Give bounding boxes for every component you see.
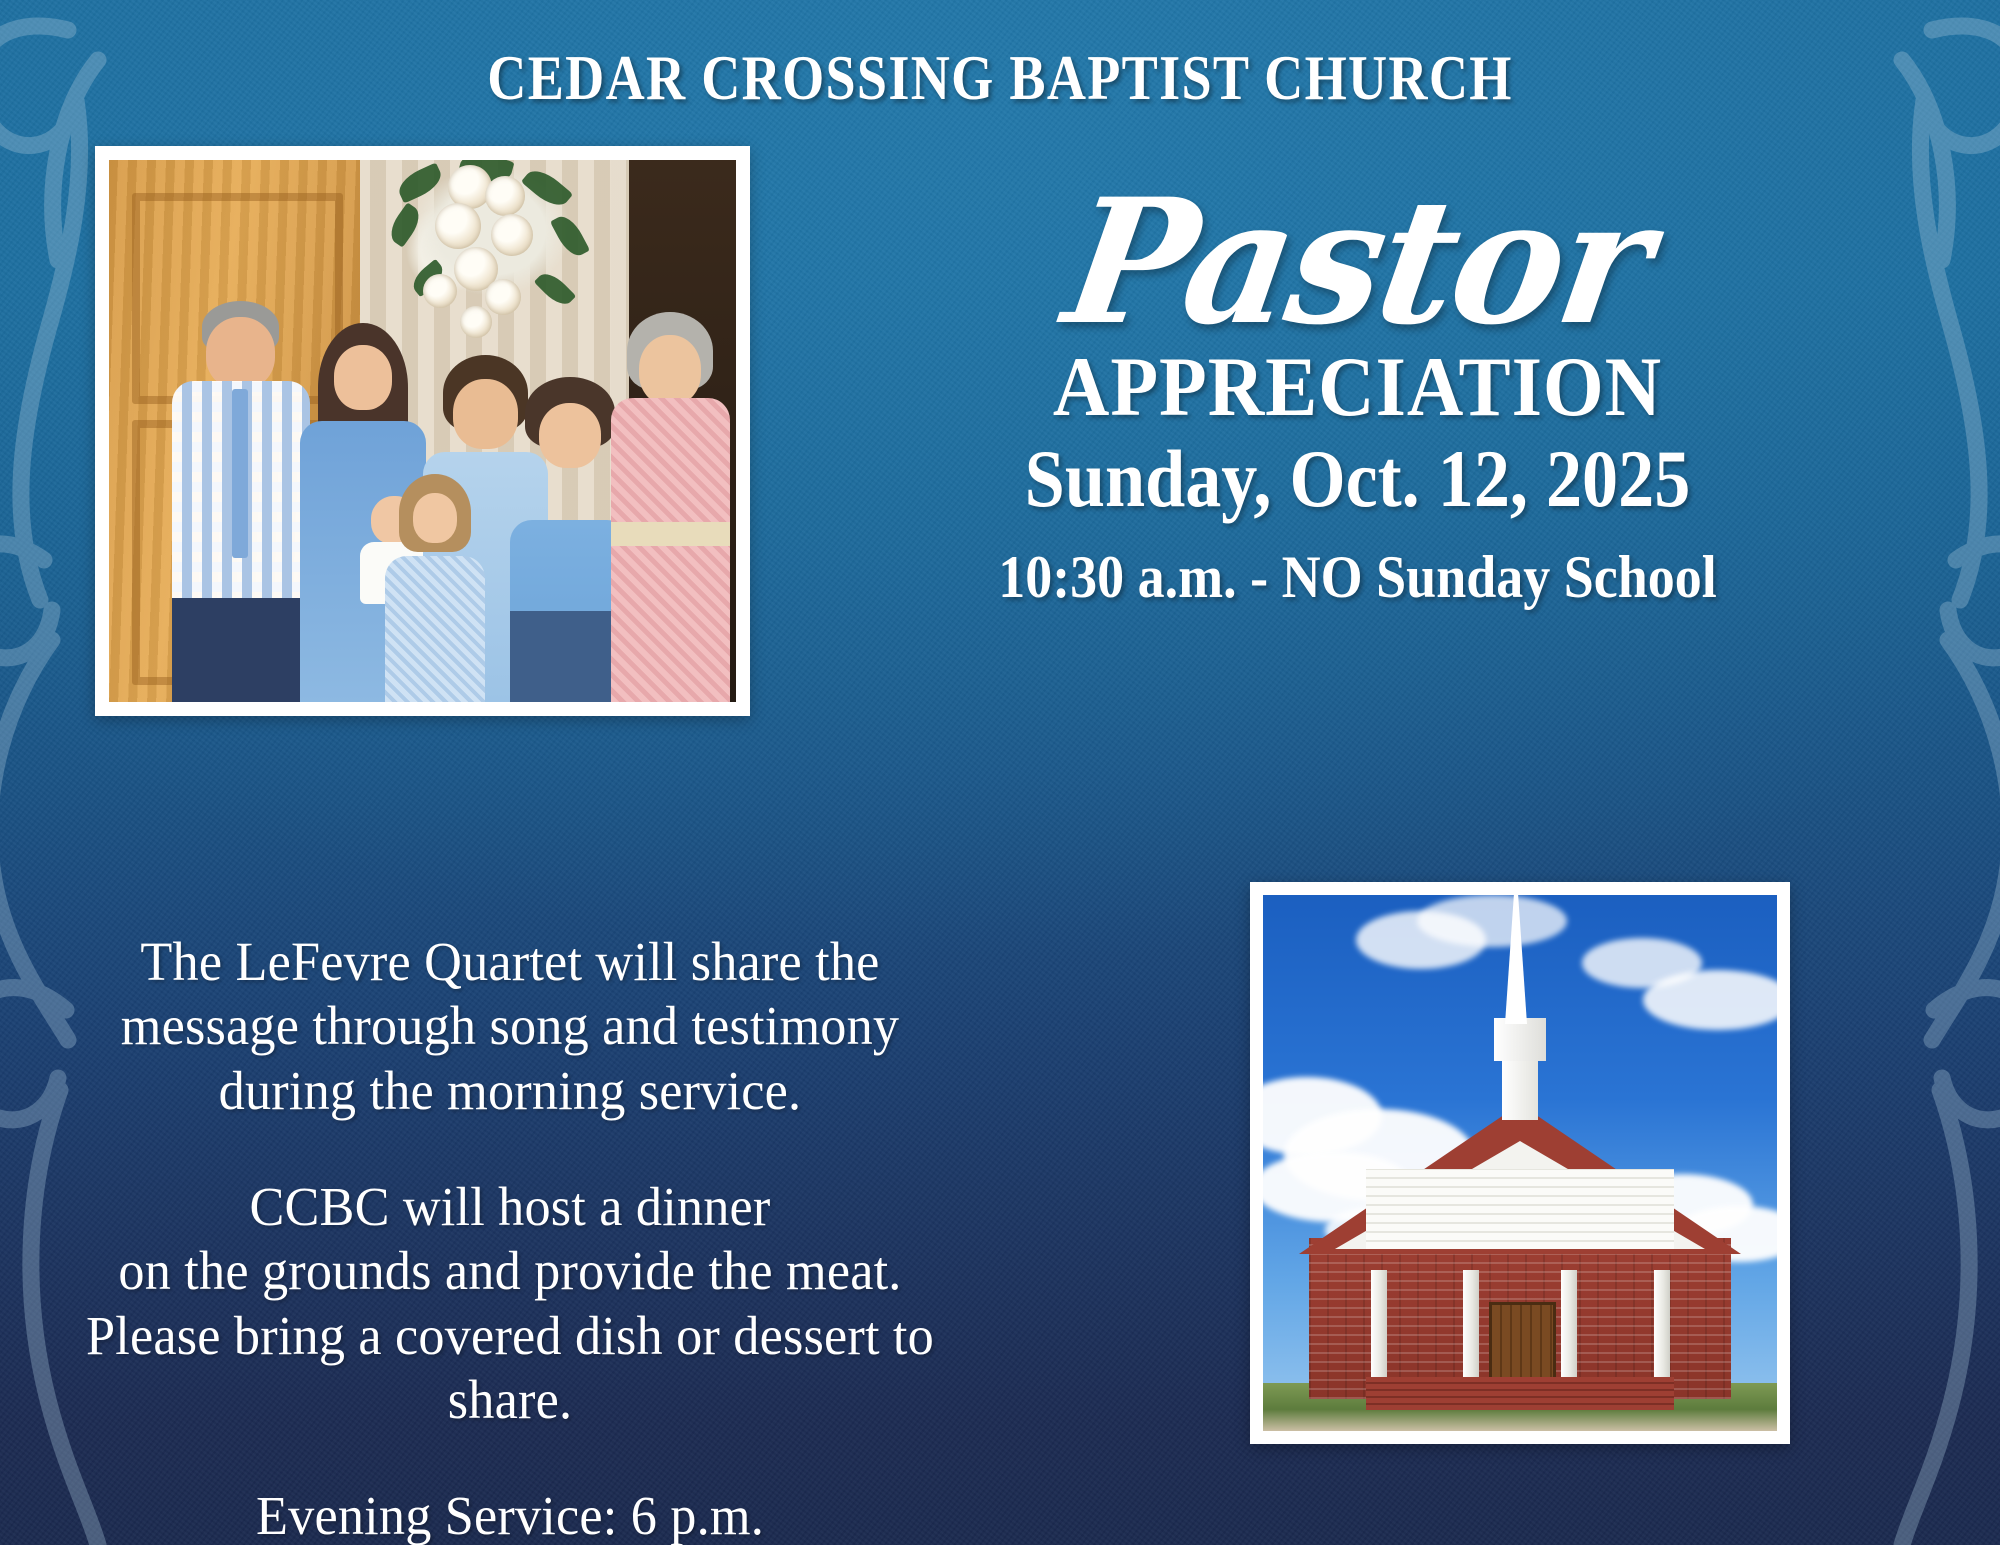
family-photo-image (109, 160, 736, 702)
body-copy-block: The LeFevre Quartet will share the messa… (64, 930, 957, 1545)
church-name-title: CEDAR CROSSING BAPTIST CHURCH (140, 42, 1860, 115)
paragraph-spacer-2 (64, 1432, 957, 1484)
church-building-photo (1250, 882, 1790, 1444)
church-photo-image (1263, 895, 1777, 1431)
body-line-5: on the grounds and provide the meat. (64, 1239, 957, 1303)
body-line-3: during the morning service. (64, 1059, 957, 1123)
pastor-script-word: Pastor (765, 178, 1951, 347)
paragraph-spacer (64, 1123, 957, 1175)
body-line-4: CCBC will host a dinner (64, 1175, 957, 1239)
headline-block: Pastor APPRECIATION Sunday, Oct. 12, 202… (760, 178, 1955, 610)
appreciation-word: APPRECIATION (808, 345, 1907, 430)
body-line-6: Please bring a covered dish or dessert t… (64, 1304, 957, 1433)
flyer-canvas: CEDAR CROSSING BAPTIST CHURCH (0, 0, 2000, 1545)
church-door (1489, 1302, 1556, 1382)
event-time: 10:30 a.m. - NO Sunday School (820, 544, 1896, 610)
body-line-2: message through song and testimony (64, 994, 957, 1058)
event-date: Sunday, Oct. 12, 2025 (832, 436, 1884, 522)
body-line-1: The LeFevre Quartet will share the (64, 930, 957, 994)
pastor-family-photo (95, 146, 750, 716)
evening-service-line: Evening Service: 6 p.m. (64, 1484, 957, 1545)
